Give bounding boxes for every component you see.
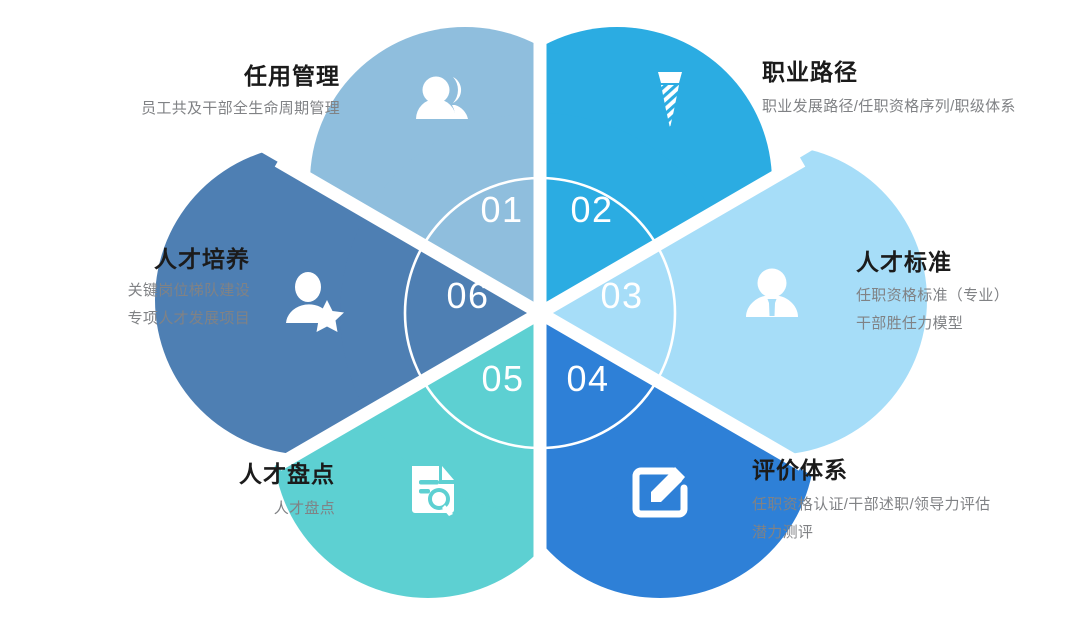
label-03-title: 人才标准 <box>856 248 1081 277</box>
label-06-title: 人才培养 <box>0 245 250 274</box>
label-02-title: 职业路径 <box>762 58 1081 87</box>
label-05-title: 人才盘点 <box>90 460 335 489</box>
label-01-任用管理[interactable]: 任用管理 员工共及干部全生命周期管理 <box>0 62 340 123</box>
label-04-title: 评价体系 <box>752 456 1081 485</box>
label-02-subtitle-1: 职业发展路径/任职资格序列/职级体系 <box>762 93 1081 121</box>
document-search-icon <box>412 466 454 516</box>
label-06-subtitle-1: 关键岗位梯队建设 <box>0 277 250 305</box>
label-03-subtitle-2: 干部胜任力模型 <box>856 310 1081 338</box>
label-04-评价体系[interactable]: 评价体系 任职资格认证/干部述职/领导力评估 潜力测评 <box>752 456 1081 546</box>
label-02-职业路径[interactable]: 职业路径 职业发展路径/任职资格序列/职级体系 <box>762 58 1081 121</box>
label-04-subtitle-2: 潜力测评 <box>752 519 1081 547</box>
label-05-subtitle-1: 人才盘点 <box>90 495 335 523</box>
label-05-人才盘点[interactable]: 人才盘点 人才盘点 <box>90 460 335 523</box>
number-03: 03 <box>600 275 643 316</box>
infographic-canvas: 01 02 03 04 05 06 <box>0 0 1081 626</box>
number-01: 01 <box>480 189 523 230</box>
label-03-人才标准[interactable]: 人才标准 任职资格标准（专业） 干部胜任力模型 <box>856 248 1081 337</box>
number-05: 05 <box>481 358 524 399</box>
label-06-subtitle-2: 专项人才发展项目 <box>0 305 250 333</box>
number-02: 02 <box>570 189 613 230</box>
number-06: 06 <box>446 275 489 316</box>
label-01-title: 任用管理 <box>0 62 340 91</box>
label-03-subtitle-1: 任职资格标准（专业） <box>856 282 1081 310</box>
label-06-人才培养[interactable]: 人才培养 关键岗位梯队建设 专项人才发展项目 <box>0 245 250 332</box>
label-01-subtitle-1: 员工共及干部全生命周期管理 <box>0 95 340 123</box>
label-04-subtitle-1: 任职资格认证/干部述职/领导力评估 <box>752 491 1081 519</box>
number-04: 04 <box>566 358 609 399</box>
